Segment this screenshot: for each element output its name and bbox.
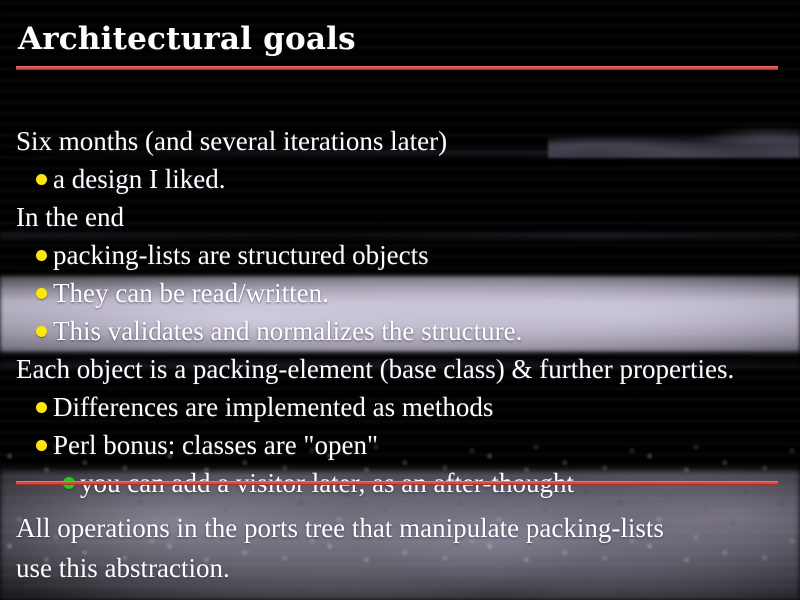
list-item-label: This validates and normalizes the struct… (53, 316, 522, 346)
list-item: packing-lists are structured objects (0, 236, 800, 274)
list-item: a design I liked. (0, 160, 800, 198)
list-item-label: a design I liked. (53, 164, 225, 194)
list-item: Six months (and several iterations later… (0, 122, 800, 160)
bullet-icon (36, 440, 47, 451)
list-item: Each object is a packing-element (base c… (0, 350, 800, 388)
footer-line: All operations in the ports tree that ma… (0, 508, 800, 548)
bullet-list: Six months (and several iterations later… (0, 122, 800, 502)
list-item-label: Six months (and several iterations later… (16, 126, 447, 156)
slide-content: Architectural goals Six months (and seve… (0, 0, 800, 600)
title-divider-rule (16, 66, 778, 70)
presentation-slide: Architectural goals Six months (and seve… (0, 0, 800, 600)
bullet-icon (36, 250, 47, 261)
list-item: This validates and normalizes the struct… (0, 312, 800, 350)
list-item: Differences are implemented as methods (0, 388, 800, 426)
list-item-label: packing-lists are structured objects (53, 240, 429, 270)
list-item-label: In the end (16, 202, 124, 232)
bullet-icon (36, 326, 47, 337)
list-item-label: Differences are implemented as methods (53, 392, 493, 422)
bullet-icon (36, 402, 47, 413)
list-item: They can be read/written. (0, 274, 800, 312)
footer-line: use this abstraction. (0, 548, 800, 588)
list-item-label: They can be read/written. (53, 278, 329, 308)
bullet-icon (36, 174, 47, 185)
slide-footer: All operations in the ports tree that ma… (0, 508, 800, 588)
footer-divider-rule (16, 481, 778, 485)
bullet-icon (36, 288, 47, 299)
list-item: In the end (0, 198, 800, 236)
list-item-label: Each object is a packing-element (base c… (16, 354, 734, 384)
list-item-label: Perl bonus: classes are "open" (53, 430, 378, 460)
list-item: Perl bonus: classes are "open" (0, 426, 800, 464)
slide-title: Architectural goals (18, 22, 356, 56)
